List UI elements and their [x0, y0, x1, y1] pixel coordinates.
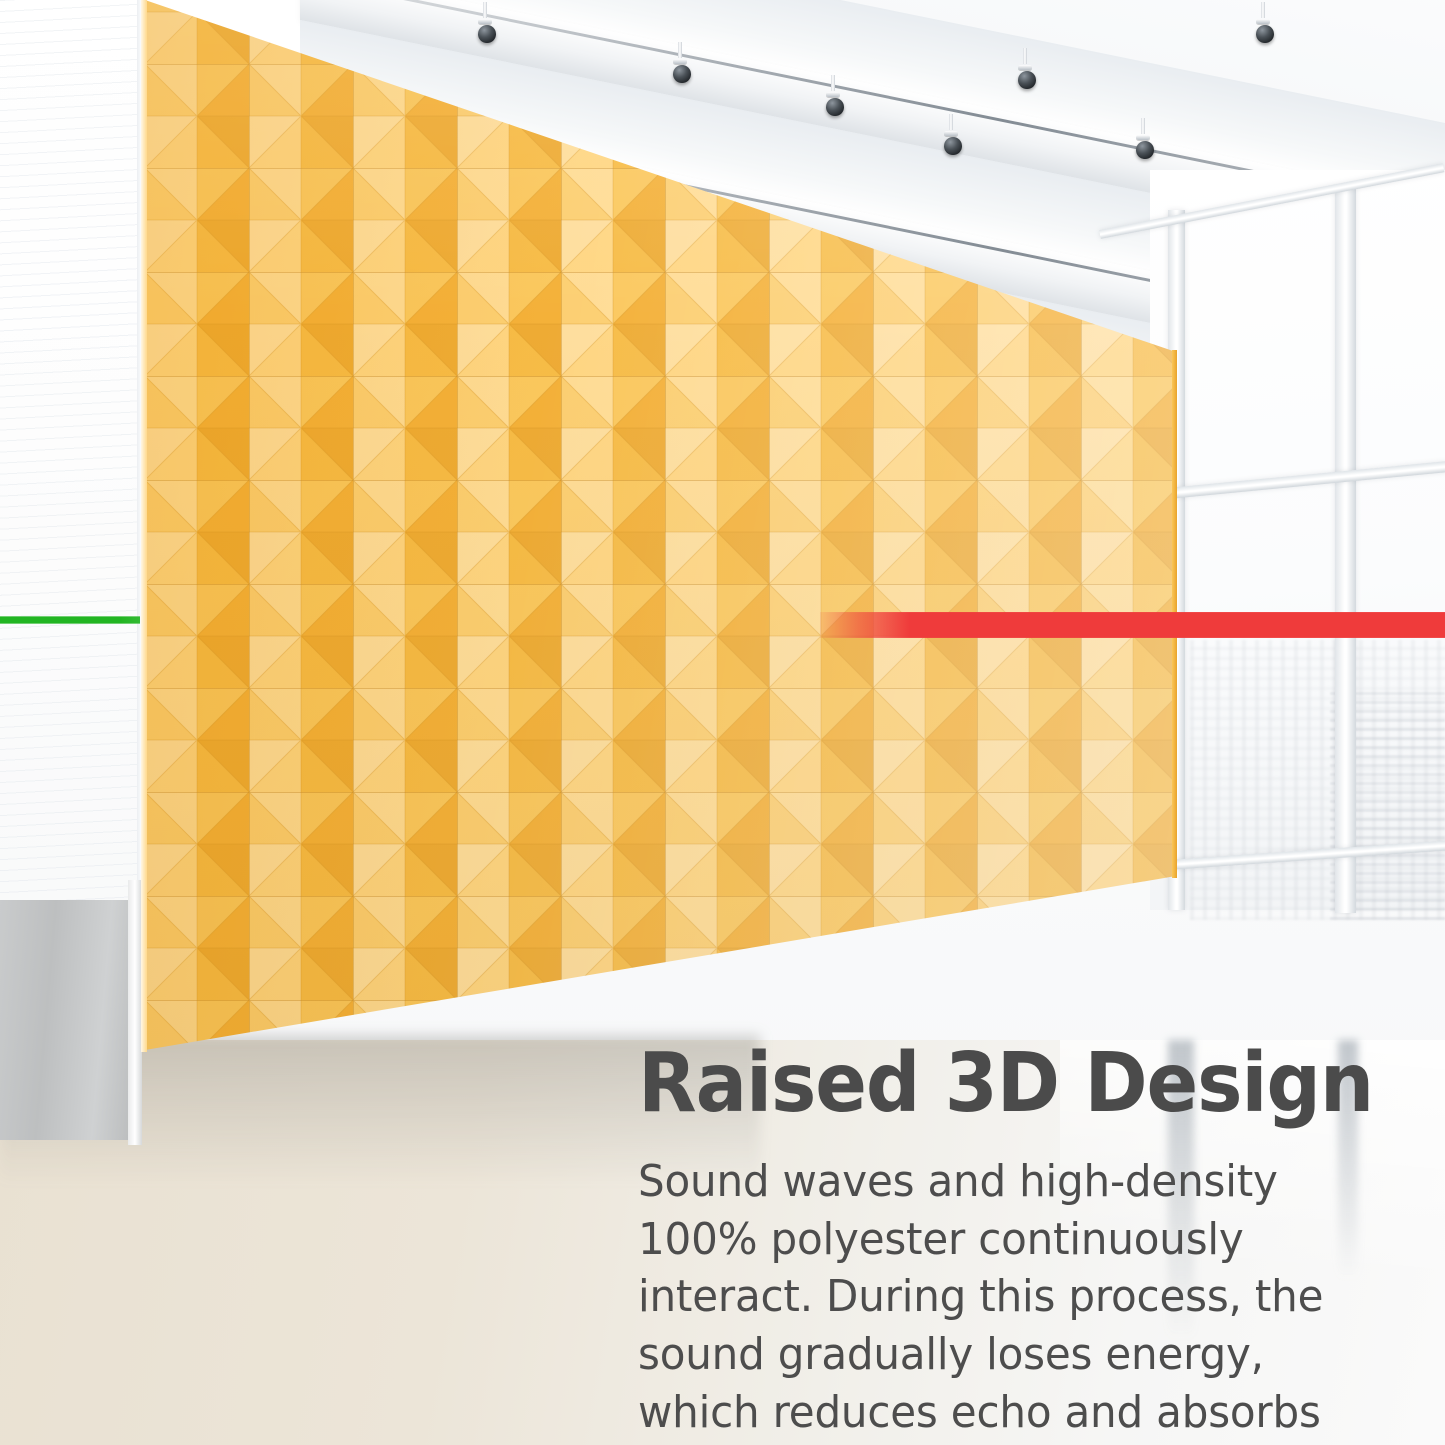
absorbed-sound-wave [0, 540, 140, 700]
page-title: Raised 3D Design [638, 1043, 1373, 1125]
panel-left-edge [141, 0, 147, 1052]
incoming-sound-wave [820, 380, 1445, 870]
copy-block: Raised 3D Design Sound waves and high-de… [638, 1043, 1428, 1445]
metal-wall-slab-edge [128, 880, 142, 1145]
product-feature-image: Raised 3D Design Sound waves and high-de… [0, 0, 1445, 1445]
metal-wall-slab [0, 900, 140, 1140]
body-paragraph: Sound waves and high-density 100% polyes… [638, 1153, 1392, 1445]
